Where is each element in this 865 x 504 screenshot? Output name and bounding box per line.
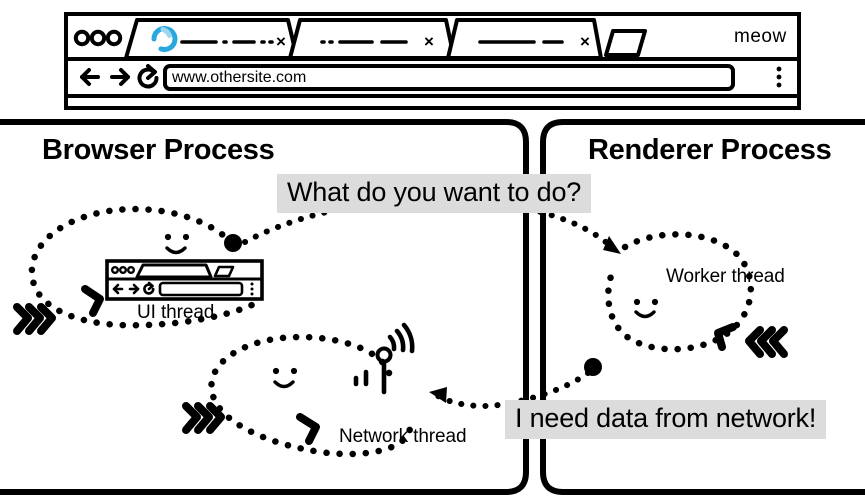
network-thread-face <box>273 368 297 387</box>
worker-thread-label: Worker thread <box>666 267 785 286</box>
renderer-process-title: Renderer Process <box>588 136 831 165</box>
ui-thread-motion-lines <box>17 307 52 331</box>
network-thread-tail-arrow <box>300 417 316 441</box>
message-worker-to-network-text: I need data from network! <box>505 400 826 439</box>
network-thread-label: Network thread <box>339 427 466 446</box>
tab-1-close-icon: × <box>276 32 286 51</box>
worker-thread-face <box>634 299 658 317</box>
tab-1: × <box>126 20 297 58</box>
tab-3-close-icon: × <box>580 32 590 51</box>
tab-2: × <box>290 20 454 58</box>
mini-browser-window-icon <box>107 261 262 299</box>
browser-process-title: Browser Process <box>42 136 274 165</box>
address-input[interactable] <box>172 69 724 86</box>
wifi-antenna-icon <box>356 325 412 392</box>
ui-thread-label: UI thread <box>137 303 214 322</box>
browser-chrome-art: × × × <box>66 14 799 108</box>
new-tab-button <box>606 31 645 55</box>
message-ui-to-worker-text: What do you want to do? <box>277 174 591 213</box>
tab-2-close-icon: × <box>424 32 434 51</box>
tab-3: × <box>448 20 601 58</box>
worker-to-network-arrowhead <box>429 387 447 403</box>
browser-menu-icon <box>777 67 782 88</box>
ui-thread-tail-arrow <box>85 289 100 313</box>
browser-brand-label: meow <box>734 27 787 46</box>
diagram-canvas: .dot { fill:none; stroke:#000; stroke-wi… <box>0 0 865 504</box>
ui-thread-face <box>165 234 189 253</box>
worker-thread-art <box>584 234 784 376</box>
window-control-dots <box>76 32 120 44</box>
ui-thread-message-origin <box>224 234 242 252</box>
network-thread-motion-lines <box>186 406 221 430</box>
worker-thread-tail-arrow <box>718 327 733 347</box>
worker-thread-motion-lines <box>749 330 784 354</box>
ui-to-worker-arrowhead <box>603 236 621 254</box>
